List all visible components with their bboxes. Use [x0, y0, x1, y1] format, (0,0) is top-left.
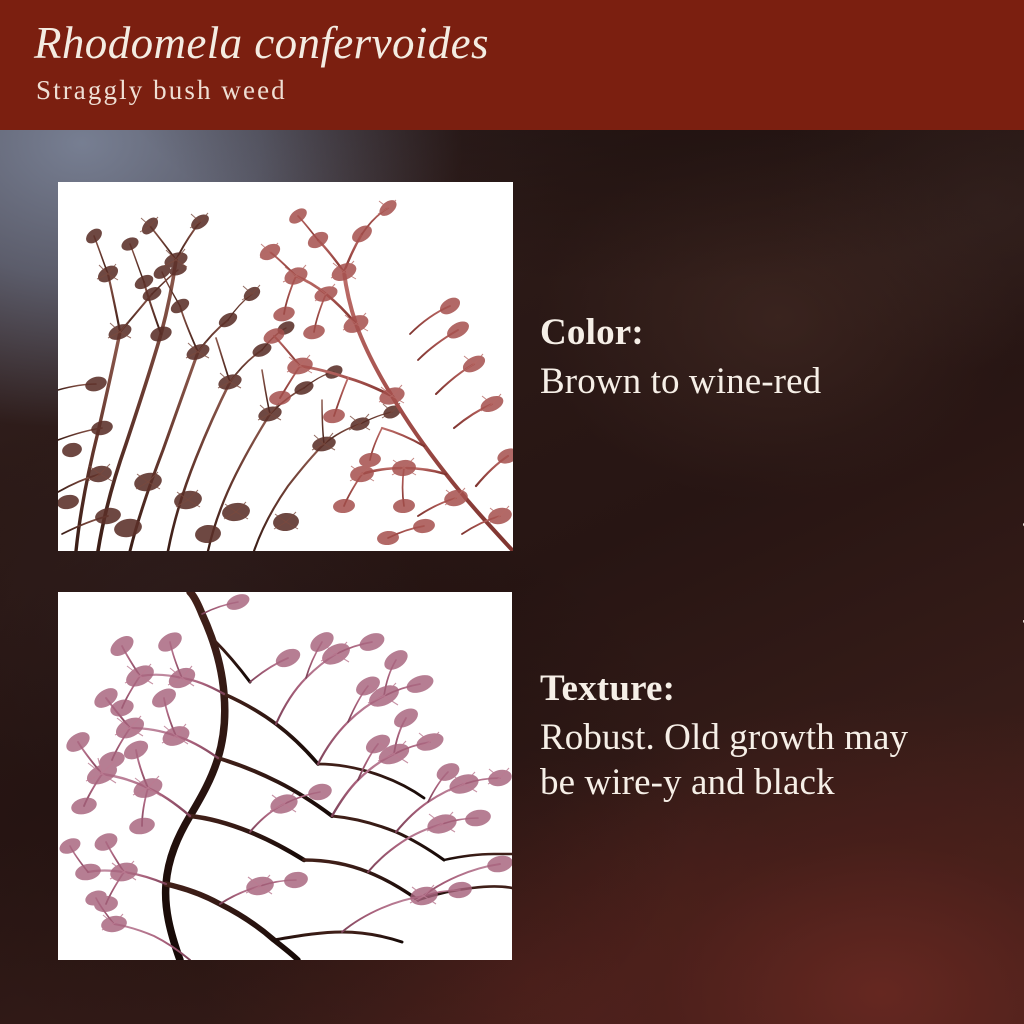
fact-color-label: Color: — [540, 312, 821, 355]
page-title: Rhodomela confervoides — [34, 19, 489, 68]
poster-canvas: Rhodomela confervoides Straggly bush wee… — [0, 0, 1024, 1024]
fact-color: Color: Brown to wine-red — [540, 312, 821, 404]
specimen-photo-top — [58, 182, 513, 551]
header-band: Rhodomela confervoides Straggly bush wee… — [0, 0, 1024, 130]
specimen-photo-bottom — [58, 592, 512, 960]
fact-texture-value: Robust. Old growth may be wire-y and bla… — [540, 715, 940, 805]
fact-texture-label: Texture: — [540, 668, 940, 711]
fact-texture: Texture: Robust. Old growth may be wire-… — [540, 668, 940, 805]
fact-color-value: Brown to wine-red — [540, 359, 821, 404]
page-subtitle: Straggly bush weed — [36, 76, 287, 106]
specimen-illustration-bottom — [58, 592, 512, 960]
specimen-illustration-top — [58, 182, 513, 551]
